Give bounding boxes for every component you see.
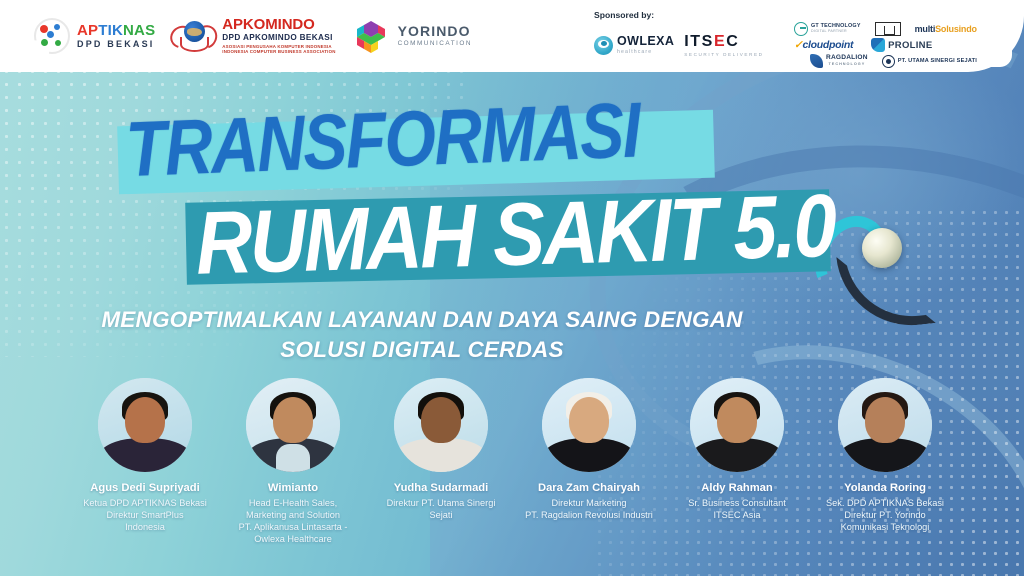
speaker-name: Agus Dedi Supriyadi [79, 481, 211, 495]
organizer-logo-group: APTIKNAS DPD BEKASI APKOMINDO DPD APKOMI… [0, 17, 472, 55]
speaker-name: Aldy Rahman [671, 481, 803, 495]
aptiknas-subtitle: DPD BEKASI [77, 40, 155, 49]
speaker-row: Agus Dedi Supriyadi Ketua DPD APTIKNAS B… [0, 378, 1024, 546]
subtitle-line-2: SOLUSI DIGITAL CERDAS [0, 335, 844, 365]
speaker-card: Yolanda Roring Sek. DPD APTIKNAS BekasiD… [819, 378, 951, 546]
yorindo-subtitle: COMMUNICATION [398, 41, 472, 47]
utama-sinergi-logo[interactable]: PT. UTAMA SINERGI SEJATI [882, 55, 977, 68]
solusindo-name: Solusindo [935, 24, 977, 34]
gt-technology-logo[interactable]: GT TECHNOLOGY DIGITAL PARTNER [794, 22, 861, 36]
ragdalion-name: RAGDALION [826, 55, 868, 62]
sti-logo[interactable] [875, 22, 901, 36]
itsec-name-accent: E [714, 33, 726, 50]
stethoscope-chestpiece-icon [862, 228, 902, 268]
ragdalion-logo-icon [810, 54, 823, 68]
speaker-role: Direktur MarketingPT. Ragdalion Revolusi… [523, 497, 655, 521]
speaker-role: Sek. DPD APTIKNAS BekasiDirektur PT. Yor… [819, 497, 951, 533]
subtitle-block: MENGOPTIMALKAN LAYANAN DAN DAYA SAING DE… [0, 305, 1024, 364]
solusindo-name-pre: multi [915, 24, 936, 34]
speaker-name: Wimianto [227, 481, 359, 495]
title-line-2: RUMAH SAKIT 5.0 [195, 174, 836, 296]
owlexa-name: OWLEXA [617, 35, 674, 48]
utama-sinergi-name: PT. UTAMA SINERGI SEJATI [898, 58, 977, 64]
yorindo-logo-icon [352, 17, 390, 55]
yorindo-name: YORINDO [398, 24, 472, 38]
avatar [246, 378, 340, 472]
apkomindo-chapter: DPD APKOMINDO BEKASI [222, 34, 335, 42]
speaker-card: Yudha Sudarmadi Direktur PT. Utama Siner… [375, 378, 507, 546]
ragdalion-subtitle: TECHNOLOGY [826, 63, 868, 67]
aptiknas-name-part3: NAS [123, 22, 155, 39]
itsec-subtitle: SECURITY DELIVERED [684, 52, 763, 57]
aptiknas-name-part2: TIK [98, 22, 123, 39]
owlexa-logo-icon [594, 36, 613, 55]
speaker-name: Yudha Sudarmadi [375, 481, 507, 495]
avatar [98, 378, 192, 472]
sponsored-by-label: Sponsored by: [594, 10, 1002, 20]
ragdalion-logo[interactable]: RAGDALION TECHNOLOGY [810, 54, 868, 68]
gt-technology-logo-icon [794, 22, 808, 36]
cloudpoint-name: cloudpoint [803, 39, 854, 51]
itsec-name-pre: ITS [684, 33, 714, 50]
speaker-card: Dara Zam Chairyah Direktur MarketingPT. … [523, 378, 655, 546]
avatar [838, 378, 932, 472]
gt-technology-subtitle: DIGITAL PARTNER [811, 30, 861, 34]
speaker-card: Aldy Rahman Sr. Business ConsultantITSEC… [671, 378, 803, 546]
sponsor-card: Sponsored by: OWLEXA healthcare ITSEC [582, 5, 1012, 67]
aptiknas-logo[interactable]: APTIKNAS DPD BEKASI [34, 18, 155, 54]
avatar [690, 378, 784, 472]
proline-logo[interactable]: PROLINE [871, 38, 932, 52]
proline-logo-icon [871, 38, 885, 52]
speaker-name: Dara Zam Chairyah [523, 481, 655, 495]
sti-logo-icon [875, 22, 901, 36]
avatar [542, 378, 636, 472]
avatar [394, 378, 488, 472]
itsec-name-post: C [726, 33, 739, 50]
header-bar: APTIKNAS DPD BEKASI APKOMINDO DPD APKOMI… [0, 0, 1024, 72]
utama-sinergi-logo-icon [882, 55, 895, 68]
subtitle-line-1: MENGOPTIMALKAN LAYANAN DAN DAYA SAING DE… [0, 305, 844, 335]
aptiknas-name-part1: AP [77, 22, 98, 39]
yorindo-logo[interactable]: YORINDO COMMUNICATION [352, 17, 472, 55]
apkomindo-logo-icon [171, 18, 217, 54]
aptiknas-logo-icon [34, 18, 70, 54]
owlexa-subtitle: healthcare [617, 49, 674, 55]
poster-canvas: APTIKNAS DPD BEKASI APKOMINDO DPD APKOMI… [0, 0, 1024, 576]
apkomindo-name: APKOMINDO [222, 17, 335, 32]
cloudpoint-check-icon: ✓ [794, 39, 803, 51]
itsec-logo[interactable]: ITSEC SECURITY DELIVERED [684, 34, 763, 57]
owlexa-logo[interactable]: OWLEXA healthcare [594, 35, 674, 55]
speaker-role: Direktur PT. Utama SinergiSejati [375, 497, 507, 521]
speaker-card: Agus Dedi Supriyadi Ketua DPD APTIKNAS B… [79, 378, 211, 546]
speaker-role: Ketua DPD APTIKNAS BekasiDirektur SmartP… [79, 497, 211, 533]
speaker-card: Wimianto Head E-Health Sales,Marketing a… [227, 378, 359, 546]
speaker-role: Sr. Business ConsultantITSEC Asia [671, 497, 803, 521]
proline-name: PROLINE [888, 40, 932, 51]
cloudpoint-logo[interactable]: ✓cloudpoint [794, 39, 853, 51]
speaker-role: Head E-Health Sales,Marketing and Soluti… [227, 497, 359, 546]
speaker-name: Yolanda Roring [819, 481, 951, 495]
apkomindo-logo[interactable]: APKOMINDO DPD APKOMINDO BEKASI ASOSIASI … [171, 17, 335, 55]
solusindo-logo[interactable]: multiSolusindo [915, 24, 977, 34]
apkomindo-full-name-en: INDONESIA COMPUTER BUSINESS ASSOCIATION [222, 50, 335, 54]
